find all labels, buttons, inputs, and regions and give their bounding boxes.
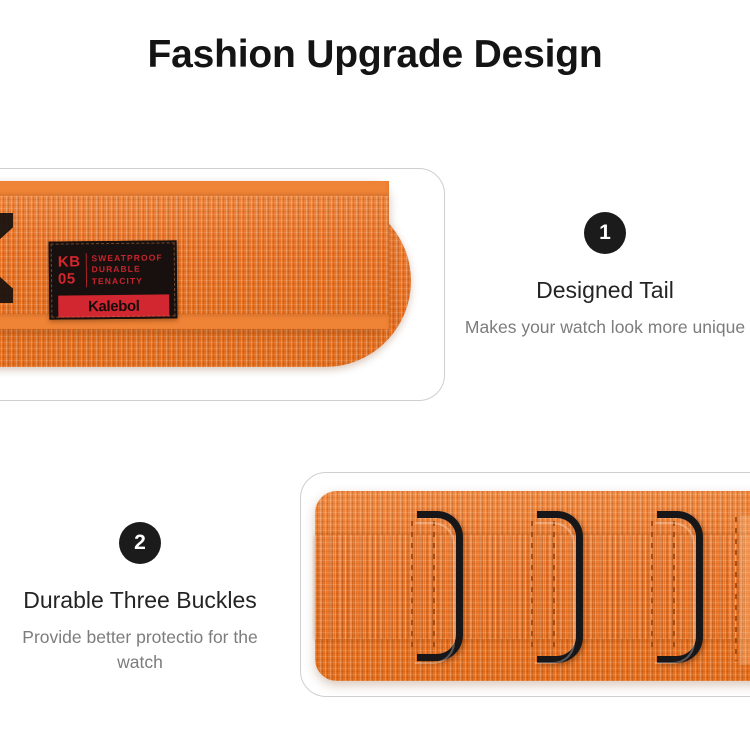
- label-top-row: KB 05 SWEATPROOF DURABLE TENACITY: [58, 247, 169, 292]
- label-model-code: KB 05: [58, 253, 87, 287]
- label-model-code-line1: KB: [58, 253, 81, 270]
- label-claim-3: TENACITY: [92, 275, 163, 287]
- callout-durable-three-buckles: 2 Durable Three Buckles Provide better p…: [0, 522, 280, 675]
- callout-badge-2: 2: [119, 522, 161, 564]
- stitch-line: [531, 521, 533, 653]
- buckle-ring: [417, 511, 463, 661]
- label-brand-bar: Kalebol: [58, 294, 169, 317]
- page-title: Fashion Upgrade Design: [0, 30, 750, 80]
- label-claim-1: SWEATPROOF: [91, 252, 162, 264]
- callout-badge-1: 1: [584, 212, 626, 254]
- callout-heading-2: Durable Three Buckles: [0, 586, 280, 615]
- stitch-line: [735, 517, 737, 661]
- strap-edge-binding-top: [0, 181, 389, 196]
- callout-body-1: Makes your watch look more unique: [460, 315, 750, 340]
- stitch-line: [651, 521, 653, 653]
- label-model-code-line2: 05: [58, 270, 81, 287]
- buckle-ring: [537, 511, 583, 663]
- label-claims: SWEATPROOF DURABLE TENACITY: [86, 252, 163, 287]
- designed-tail-photo-panel: KB 05 SWEATPROOF DURABLE TENACITY Kalebo…: [0, 168, 445, 401]
- callout-heading-1: Designed Tail: [460, 276, 750, 305]
- label-brand-name: Kalebol: [88, 297, 140, 315]
- callout-body-2: Provide better protectio for the watch: [0, 625, 280, 675]
- watch-strap-buckle-section: [315, 491, 750, 681]
- stitch-line: [411, 521, 413, 653]
- three-buckles-photo-panel: [300, 472, 750, 697]
- buckle-ring: [657, 511, 703, 663]
- callout-designed-tail: 1 Designed Tail Makes your watch look mo…: [460, 212, 750, 340]
- strap-seam-panel: [739, 515, 750, 665]
- label-claim-2: DURABLE: [92, 264, 163, 276]
- product-brand-label: KB 05 SWEATPROOF DURABLE TENACITY Kalebo…: [49, 240, 178, 319]
